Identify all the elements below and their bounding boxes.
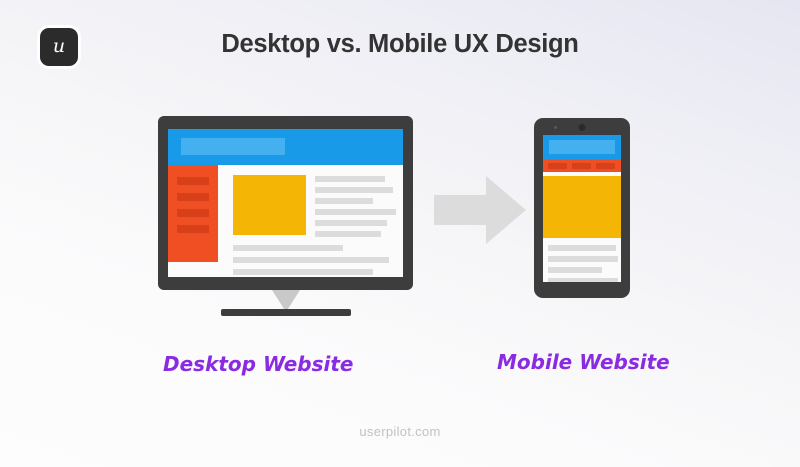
mobile-text-line bbox=[548, 256, 618, 262]
desktop-text-line bbox=[315, 209, 396, 215]
mobile-topbar bbox=[543, 135, 621, 159]
mobile-text-line bbox=[548, 245, 616, 251]
mobile-nav-item bbox=[572, 163, 591, 169]
phone-speaker-icon bbox=[579, 124, 586, 131]
desktop-sidebar-item bbox=[177, 177, 209, 185]
desktop-text-line bbox=[233, 257, 389, 263]
mobile-nav-bar bbox=[543, 159, 621, 172]
mobile-text-line bbox=[548, 278, 618, 282]
desktop-text-line bbox=[315, 198, 373, 204]
mobile-hero-image bbox=[543, 176, 621, 238]
desktop-sidebar-item bbox=[177, 193, 209, 201]
desktop-monitor-illustration bbox=[158, 116, 413, 290]
mobile-caption: Mobile Website bbox=[497, 350, 670, 374]
desktop-text-line bbox=[233, 269, 373, 275]
watermark: userpilot.com bbox=[0, 424, 800, 439]
desktop-text-line bbox=[233, 245, 343, 251]
slide-canvas: u Desktop vs. Mobile UX Design bbox=[0, 0, 800, 467]
phone-frame bbox=[534, 118, 630, 298]
monitor-frame bbox=[158, 116, 413, 290]
desktop-text-line bbox=[315, 220, 387, 226]
page-title: Desktop vs. Mobile UX Design bbox=[0, 30, 800, 59]
mobile-phone-illustration bbox=[534, 118, 630, 298]
desktop-caption: Desktop Website bbox=[163, 352, 354, 376]
desktop-hero-image bbox=[233, 175, 306, 235]
phone-camera-icon bbox=[554, 126, 557, 129]
mobile-nav-item bbox=[596, 163, 615, 169]
mobile-text-line bbox=[548, 267, 602, 273]
monitor-stand-base bbox=[221, 309, 351, 316]
desktop-sidebar-item bbox=[177, 209, 209, 217]
desktop-text-line bbox=[315, 176, 385, 182]
monitor-screen bbox=[168, 129, 403, 277]
desktop-sidebar bbox=[168, 165, 218, 262]
desktop-text-line bbox=[315, 231, 381, 237]
desktop-sidebar-item bbox=[177, 225, 209, 233]
desktop-topbar bbox=[168, 129, 403, 165]
phone-screen bbox=[543, 135, 621, 282]
desktop-text-line bbox=[315, 187, 393, 193]
mobile-nav-item bbox=[548, 163, 567, 169]
mobile-topbar-logo-block bbox=[549, 140, 615, 154]
right-arrow-icon bbox=[434, 176, 526, 244]
desktop-topbar-logo-block bbox=[181, 138, 285, 155]
